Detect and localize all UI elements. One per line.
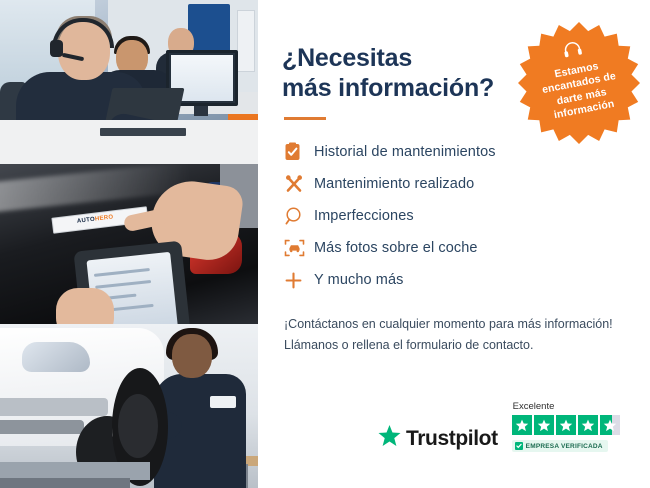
feature-label: Historial de mantenimientos bbox=[314, 144, 496, 160]
car-grille-upper bbox=[0, 398, 108, 416]
feature-item-much-more: Y mucho más bbox=[284, 264, 620, 296]
laptop-base bbox=[100, 128, 186, 136]
feature-label: Más fotos sobre el coche bbox=[314, 240, 478, 256]
trustpilot-wordmark: Trustpilot bbox=[406, 427, 498, 451]
mechanic-uniform-logo bbox=[210, 396, 236, 408]
ruler-brand-part1: AUTO bbox=[77, 217, 96, 225]
rating-star-4 bbox=[578, 415, 598, 435]
wall-poster-secondary bbox=[237, 10, 255, 72]
trustpilot-logo[interactable]: Trustpilot bbox=[378, 425, 498, 452]
magnifier-icon bbox=[284, 206, 314, 226]
feature-label: Y mucho más bbox=[314, 272, 403, 288]
ruler-brand-label: AUTOHERO bbox=[77, 214, 114, 224]
headset-icon bbox=[561, 39, 585, 64]
trustpilot-star-icon bbox=[378, 425, 401, 452]
tablet-screen-line bbox=[94, 268, 150, 277]
feature-item-imperfections: Imperfecciones bbox=[284, 200, 620, 232]
content-panel: ¿Necesitas más información? Historial de… bbox=[258, 0, 650, 488]
photo-column: AUTOHERO bbox=[0, 0, 258, 488]
monitor-stand bbox=[194, 106, 208, 116]
info-badge: Estamos encantados de darte más informac… bbox=[518, 22, 640, 144]
rating-star-3 bbox=[556, 415, 576, 435]
page-title-line1: ¿Necesitas bbox=[282, 44, 412, 72]
car-photo-frame-icon bbox=[284, 238, 314, 258]
title-divider bbox=[284, 117, 326, 120]
feature-label: Mantenimiento realizado bbox=[314, 176, 474, 192]
car-headlight bbox=[22, 342, 90, 372]
page-title-line2: más información? bbox=[282, 74, 494, 102]
feature-item-maintenance-done: Mantenimiento realizado bbox=[284, 168, 620, 200]
front-wheel-rim bbox=[118, 394, 158, 458]
verified-label: EMPRESA VERIFICADA bbox=[526, 443, 603, 450]
verified-badge: EMPRESA VERIFICADA bbox=[512, 440, 608, 452]
rating-star-1 bbox=[512, 415, 532, 435]
ruler-brand-part2: HERO bbox=[95, 214, 114, 222]
feature-label: Imperfecciones bbox=[314, 208, 414, 224]
car-lift-base bbox=[0, 478, 130, 488]
tablet-screen-line bbox=[95, 280, 151, 289]
inspector-hand-lower bbox=[56, 288, 114, 324]
plus-icon bbox=[284, 271, 314, 290]
trustpilot-widget[interactable]: Trustpilot Excelente bbox=[378, 401, 620, 452]
rating-star-2 bbox=[534, 415, 554, 435]
rating-star-5-partial bbox=[600, 415, 620, 435]
car-grille-lower bbox=[0, 420, 84, 434]
trustpilot-rating: Excelente bbox=[512, 401, 620, 452]
mechanic-head bbox=[172, 334, 212, 378]
desk-surface bbox=[0, 120, 258, 164]
photo-call-center bbox=[0, 0, 258, 164]
rating-label: Excelente bbox=[513, 401, 555, 412]
badge-content: Estamos encantados de darte más informac… bbox=[507, 11, 650, 154]
agent-headset-earcup bbox=[50, 40, 63, 57]
badge-text: Estamos encantados de darte más informac… bbox=[526, 55, 634, 127]
verified-check-icon bbox=[515, 442, 523, 450]
wrench-screwdriver-icon bbox=[284, 174, 314, 194]
rating-stars bbox=[512, 415, 620, 435]
photo-car-inspection: AUTOHERO bbox=[0, 164, 258, 324]
feature-item-more-photos: Más fotos sobre el coche bbox=[284, 232, 620, 264]
contact-line2: Llámanos o rellena el formulario de cont… bbox=[284, 338, 533, 352]
promo-card: AUTOHERO bbox=[0, 0, 650, 488]
feature-list: Historial de mantenimientos Mantenimient… bbox=[284, 136, 620, 296]
photo-wheel-inspection bbox=[0, 324, 258, 488]
contact-line1: ¡Contáctanos en cualquier momento para m… bbox=[284, 317, 613, 331]
clipboard-check-icon bbox=[284, 142, 314, 162]
contact-text: ¡Contáctanos en cualquier momento para m… bbox=[284, 314, 620, 355]
